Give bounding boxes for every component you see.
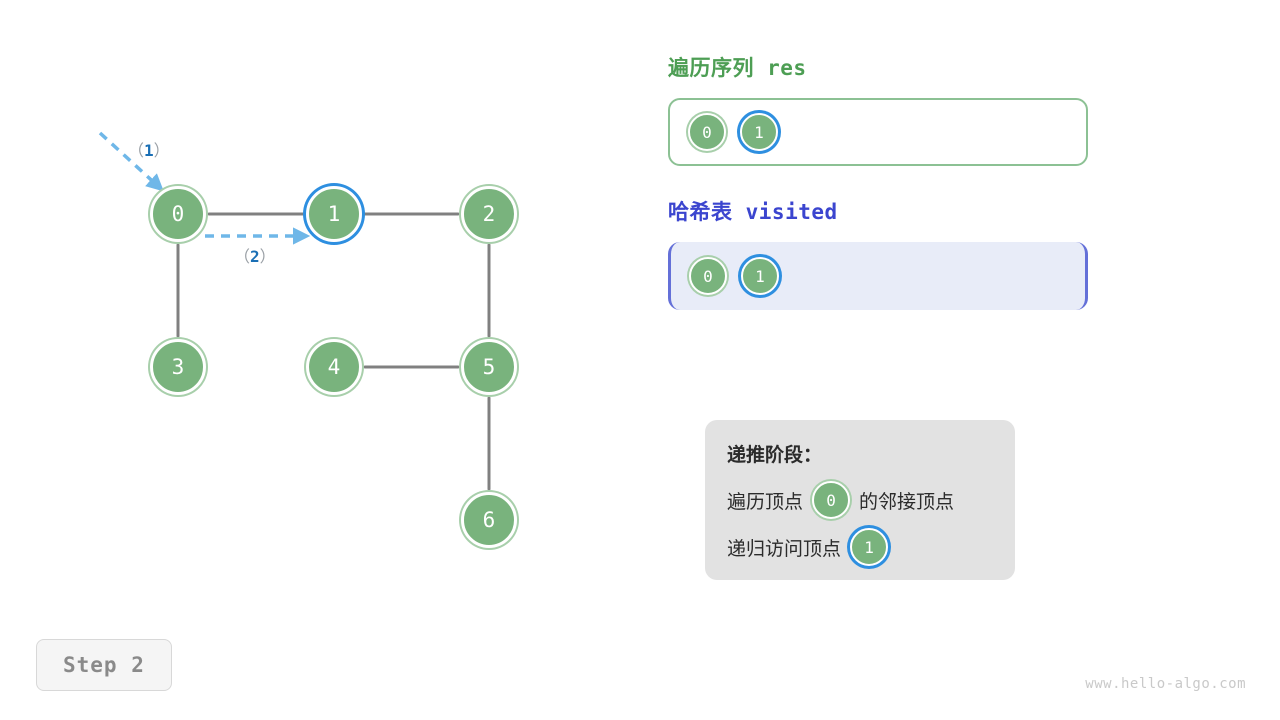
- phase-line-1-before: 遍历顶点: [727, 487, 803, 514]
- graph-node-2[interactable]: 2: [461, 186, 517, 242]
- res-list: 01: [668, 98, 1088, 166]
- state-panel: 遍历序列 res 01 哈希表 visited 01: [668, 52, 1088, 310]
- phase-line-2-before: 递归访问顶点: [727, 534, 841, 561]
- step-badge: Step 2: [36, 639, 172, 691]
- graph-node-6[interactable]: 6: [461, 492, 517, 548]
- visited-set: 01: [668, 242, 1088, 310]
- illustration-canvas: 0123456 （1）（2） 遍历序列 res 01 哈希表 visited 0…: [0, 0, 1280, 720]
- phase-heading: 递推阶段：: [727, 440, 993, 467]
- visited-title: 哈希表 visited: [668, 196, 1088, 226]
- visited-item-0: 0: [689, 257, 727, 295]
- phase-line-2: 递归访问顶点 1: [727, 528, 993, 566]
- phase-line-1-after: 的邻接顶点: [859, 487, 954, 514]
- res-item-0: 0: [688, 113, 726, 151]
- entry-arrow-label: （1）: [128, 137, 170, 161]
- phase-chip-vertex-1: 1: [850, 528, 888, 566]
- visited-item-1: 1: [741, 257, 779, 295]
- graph-node-0[interactable]: 0: [150, 186, 206, 242]
- graph-node-4[interactable]: 4: [306, 339, 362, 395]
- graph-diagram: 0123456 （1）（2）: [0, 0, 620, 620]
- res-item-1: 1: [740, 113, 778, 151]
- res-title: 遍历序列 res: [668, 52, 1088, 82]
- graph-node-1[interactable]: 1: [306, 186, 362, 242]
- watermark: www.hello-algo.com: [1085, 676, 1246, 692]
- phase-line-1: 遍历顶点 0 的邻接顶点: [727, 481, 993, 519]
- phase-chip-vertex-0: 0: [812, 481, 850, 519]
- graph-node-3[interactable]: 3: [150, 339, 206, 395]
- graph-edges-layer: [0, 0, 620, 620]
- graph-node-5[interactable]: 5: [461, 339, 517, 395]
- phase-info-box: 递推阶段： 遍历顶点 0 的邻接顶点 递归访问顶点 1: [705, 420, 1015, 580]
- traverse-arrow-label: （2）: [234, 243, 276, 267]
